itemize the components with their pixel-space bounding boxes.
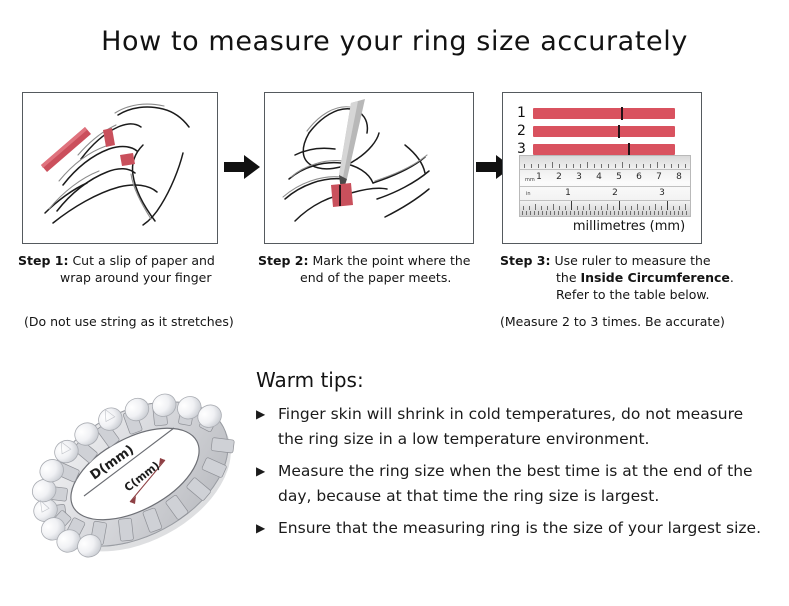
- step-2-label: Step 2:: [258, 253, 308, 268]
- step-3-inside-circumference-emphasis: Inside Circumference: [581, 270, 730, 285]
- step-1-caption: Step 1: Cut a slip of paper and wrap aro…: [18, 252, 254, 286]
- hand-marking-with-pen-drawing: [265, 93, 471, 241]
- ruler-caption: millimetres (mm): [559, 219, 699, 234]
- step-2-illustration-panel: [264, 92, 474, 244]
- step-2-line2: end of the paper meets.: [258, 269, 494, 286]
- paper-strip-on-finger: [331, 183, 353, 207]
- paper-strip-2: [533, 126, 675, 137]
- strip-mark-2: [618, 125, 620, 138]
- step-3-line3: Refer to the table below.: [500, 286, 780, 303]
- step-3-line2-suffix: .: [730, 270, 734, 285]
- warm-tip-text: Finger skin will shrink in cold temperat…: [278, 405, 743, 448]
- paper-strip-1: [533, 108, 675, 119]
- step-3-line2: the Inside Circumference.: [500, 269, 780, 286]
- arrow-step1-to-step2-icon: [222, 152, 262, 182]
- paper-strip-3: [533, 144, 675, 155]
- strip-mark-3: [628, 143, 630, 156]
- warm-tips-heading: Warm tips:: [256, 368, 364, 392]
- strip-number-1: 1: [517, 105, 533, 121]
- ruler-graphic: mm 1 2 3 4 5 6 7 8 in 1 2 3: [519, 155, 691, 217]
- hand-with-paper-strip-drawing: [23, 93, 215, 241]
- warm-tip-item: ▶ Measure the ring size when the best ti…: [256, 459, 766, 509]
- strip-mark-1: [621, 107, 623, 120]
- ring-size-guide-page: How to measure your ring size accurately: [0, 0, 789, 606]
- step-3-note: (Measure 2 to 3 times. Be accurate): [500, 314, 725, 329]
- ruler-bottom-numbers: 1 2 3: [520, 188, 690, 200]
- measured-strip-row-1: 1: [517, 105, 675, 121]
- step-1-label: Step 1:: [18, 253, 68, 268]
- triangle-bullet-icon: ▶: [256, 459, 265, 484]
- step-3-illustration-panel: 1 2 3: [502, 92, 702, 244]
- diamond-eternity-ring-illustration: D(mm) C(mm): [22, 356, 248, 586]
- step-3-line1: Use ruler to measure the: [554, 253, 710, 268]
- ruler-top-numbers: 1 2 3 4 5 6 7 8: [520, 172, 690, 184]
- step-3-line2-prefix: the: [556, 270, 581, 285]
- step-3-label: Step 3:: [500, 253, 550, 268]
- page-title: How to measure your ring size accurately: [0, 26, 789, 57]
- ring-diagram: D(mm) C(mm): [22, 356, 248, 586]
- ruler-top-ticks: [520, 158, 690, 168]
- warm-tip-item: ▶ Ensure that the measuring ring is the …: [256, 516, 766, 541]
- strip-number-2: 2: [517, 123, 533, 139]
- step-1-line2: wrap around your finger: [18, 269, 254, 286]
- step-1-line1: Cut a slip of paper and: [72, 253, 214, 268]
- step-2-caption: Step 2: Mark the point where the end of …: [258, 252, 494, 286]
- warm-tip-text: Ensure that the measuring ring is the si…: [278, 519, 761, 537]
- warm-tip-item: ▶ Finger skin will shrink in cold temper…: [256, 402, 766, 452]
- triangle-bullet-icon: ▶: [256, 516, 265, 541]
- triangle-bullet-icon: ▶: [256, 402, 265, 427]
- warm-tips-list: ▶ Finger skin will shrink in cold temper…: [256, 402, 766, 548]
- step-2-line1: Mark the point where the: [312, 253, 470, 268]
- step-1-note: (Do not use string as it stretches): [24, 314, 234, 329]
- ruler-edge-ticks: [520, 208, 690, 215]
- step-3-caption: Step 3: Use ruler to measure the the Ins…: [500, 252, 780, 303]
- measured-strip-row-2: 2: [517, 123, 675, 139]
- pen-icon: [339, 99, 365, 191]
- warm-tip-text: Measure the ring size when the best time…: [278, 462, 753, 505]
- step-1-illustration-panel: [22, 92, 218, 244]
